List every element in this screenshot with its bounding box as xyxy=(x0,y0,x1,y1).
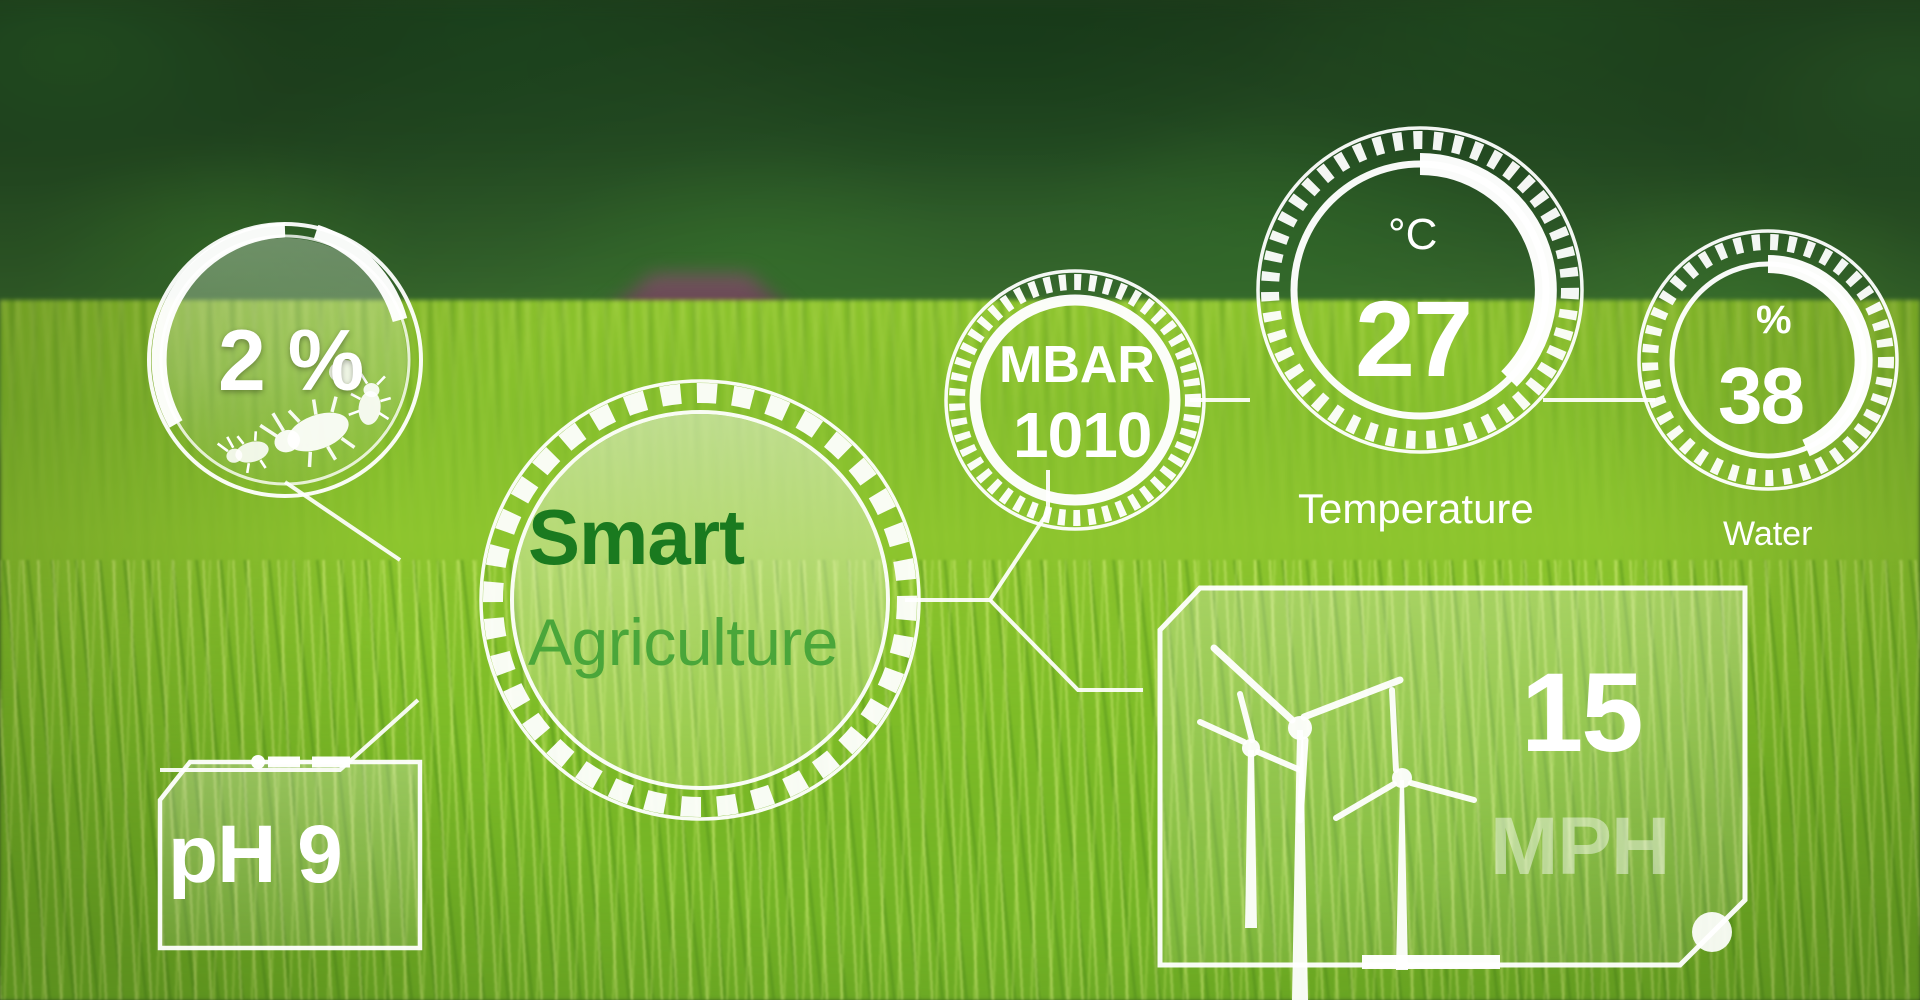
connector-hub-to-wind xyxy=(990,600,1143,690)
wind-status-dot xyxy=(1692,912,1732,952)
ph-value: pH 9 xyxy=(168,808,342,902)
wind-value: 15 xyxy=(1521,648,1642,777)
pressure-unit: MBAR xyxy=(999,335,1155,395)
brand-subtitle: Agriculture xyxy=(528,604,838,680)
wind-widget[interactable] xyxy=(1160,588,1745,1000)
smart-agriculture-hub[interactable] xyxy=(481,381,919,819)
water-label: Water xyxy=(1723,515,1812,554)
smart-agriculture-infographic: 2 % Smart Agriculture MBAR 1010 °C 27 Te… xyxy=(0,0,1920,1000)
water-value: 38 xyxy=(1718,350,1803,442)
ph-dot xyxy=(251,755,265,769)
brand-title: Smart xyxy=(528,492,744,583)
hub-glass-fill xyxy=(514,414,886,786)
pest-value: 2 % xyxy=(218,312,363,411)
wind-unit: MPH xyxy=(1490,800,1669,894)
temperature-unit: °C xyxy=(1388,210,1437,260)
pressure-value: 1010 xyxy=(1013,398,1151,472)
temperature-label: Temperature xyxy=(1298,485,1534,533)
water-unit: % xyxy=(1756,298,1792,343)
temperature-value: 27 xyxy=(1355,276,1471,401)
